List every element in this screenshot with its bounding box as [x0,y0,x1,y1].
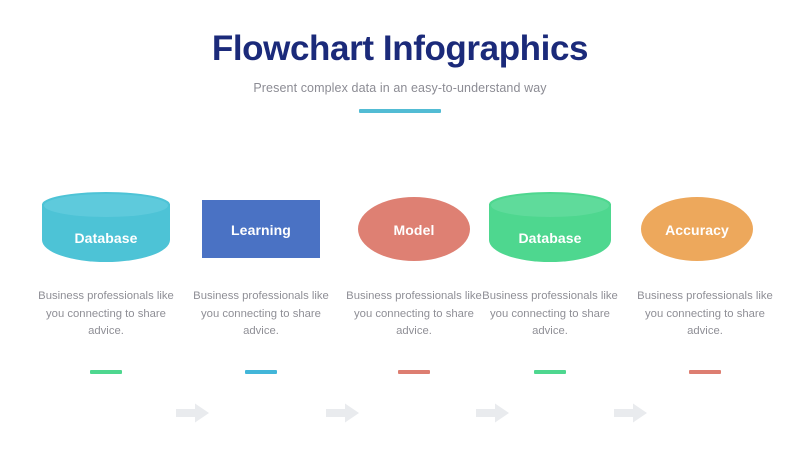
arrow-right-icon [326,402,360,424]
flow-node-underbar [689,370,721,374]
flow-node-underbar [245,370,277,374]
flow-node-caption: Business professionals like you connecti… [629,288,781,341]
arrow-right-icon [176,402,210,424]
flow-node-model[interactable]: Model [358,180,470,280]
flow-node-accuracy[interactable]: Accuracy [641,180,753,280]
flow-node-underbar [534,370,566,374]
flow-node-underbar [398,370,430,374]
flow-arrow-3 [476,402,510,424]
flow-node-underbar [90,370,122,374]
flow-node-caption: Business professionals like you connecti… [185,288,337,341]
flow-node-caption: Business professionals like you connecti… [30,288,182,341]
title-divider [359,109,441,113]
flow-arrow-1 [176,402,210,424]
flow-node-learning[interactable]: Learning [202,180,320,280]
flow-node-label: Model [358,222,470,238]
arrow-right-icon [476,402,510,424]
flowchart-row: Database Learning Model [0,180,800,280]
flow-node-caption: Business professionals like you connecti… [474,288,626,341]
cylinder-top-highlight [44,194,168,217]
page-subtitle: Present complex data in an easy-to-under… [0,81,800,95]
flow-node-label: Database [42,230,170,246]
slide-canvas: Flowchart Infographics Present complex d… [0,0,800,450]
cylinder-top-highlight [491,194,609,217]
page-title: Flowchart Infographics [0,30,800,69]
flow-node-database-2[interactable]: Database [489,180,611,280]
flow-node-label: Database [489,230,611,246]
header: Flowchart Infographics Present complex d… [0,30,800,113]
flow-node-database-1[interactable]: Database [42,180,170,280]
flow-arrow-4 [614,402,648,424]
arrow-right-icon [614,402,648,424]
flow-node-label: Learning [202,222,320,238]
flow-node-caption: Business professionals like you connecti… [338,288,490,341]
flow-arrow-2 [326,402,360,424]
flow-node-label: Accuracy [641,222,753,238]
